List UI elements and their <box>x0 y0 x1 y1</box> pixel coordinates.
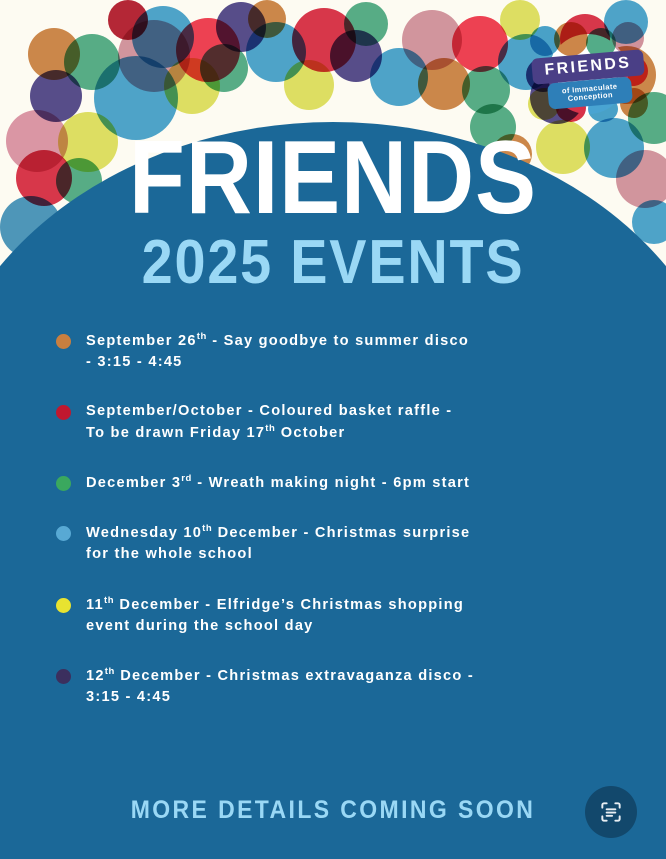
footer-note: MORE DETAILS COMING SOON <box>27 796 640 825</box>
event-item: September 26th - Say goodbye to summer d… <box>56 330 636 373</box>
confetti-dot <box>344 2 388 46</box>
poster-root: FRIENDS of Immaculate Conception FRIENDS… <box>0 0 666 859</box>
event-bullet <box>56 476 71 491</box>
event-text: 12th December - Christmas extravaganza d… <box>86 665 474 708</box>
event-text: December 3rd - Wreath making night - 6pm… <box>86 472 470 494</box>
event-bullet <box>56 526 71 541</box>
event-item: Wednesday 10th December - Christmas surp… <box>56 522 636 565</box>
event-bullet <box>56 598 71 613</box>
event-bullet <box>56 405 71 420</box>
logo-blob-orange <box>554 22 588 56</box>
confetti-dot <box>284 60 334 110</box>
event-text: September/October - Coloured basket raff… <box>86 401 452 444</box>
event-item: December 3rd - Wreath making night - 6pm… <box>56 472 636 494</box>
confetti-dot <box>248 0 286 38</box>
friends-logo: FRIENDS of Immaculate Conception <box>526 22 650 122</box>
event-text: 11th December - Elfridge’s Christmas sho… <box>86 594 464 637</box>
poster-subtitle: 2025 EVENTS <box>33 232 632 294</box>
event-bullet <box>56 334 71 349</box>
event-text: Wednesday 10th December - Christmas surp… <box>86 522 470 565</box>
poster-title: FRIENDS <box>40 128 626 230</box>
text-scan-icon <box>598 799 624 825</box>
event-item: September/October - Coloured basket raff… <box>56 401 636 444</box>
events-list: September 26th - Say goodbye to summer d… <box>56 330 636 736</box>
text-scan-button[interactable] <box>585 786 637 838</box>
confetti-dot <box>200 44 248 92</box>
event-bullet <box>56 669 71 684</box>
logo-banner-sub-line2: Conception <box>567 91 613 103</box>
event-item: 12th December - Christmas extravaganza d… <box>56 665 636 708</box>
logo-banner-primary-label: FRIENDS <box>544 54 632 80</box>
event-item: 11th December - Elfridge’s Christmas sho… <box>56 594 636 637</box>
event-text: September 26th - Say goodbye to summer d… <box>86 330 469 373</box>
